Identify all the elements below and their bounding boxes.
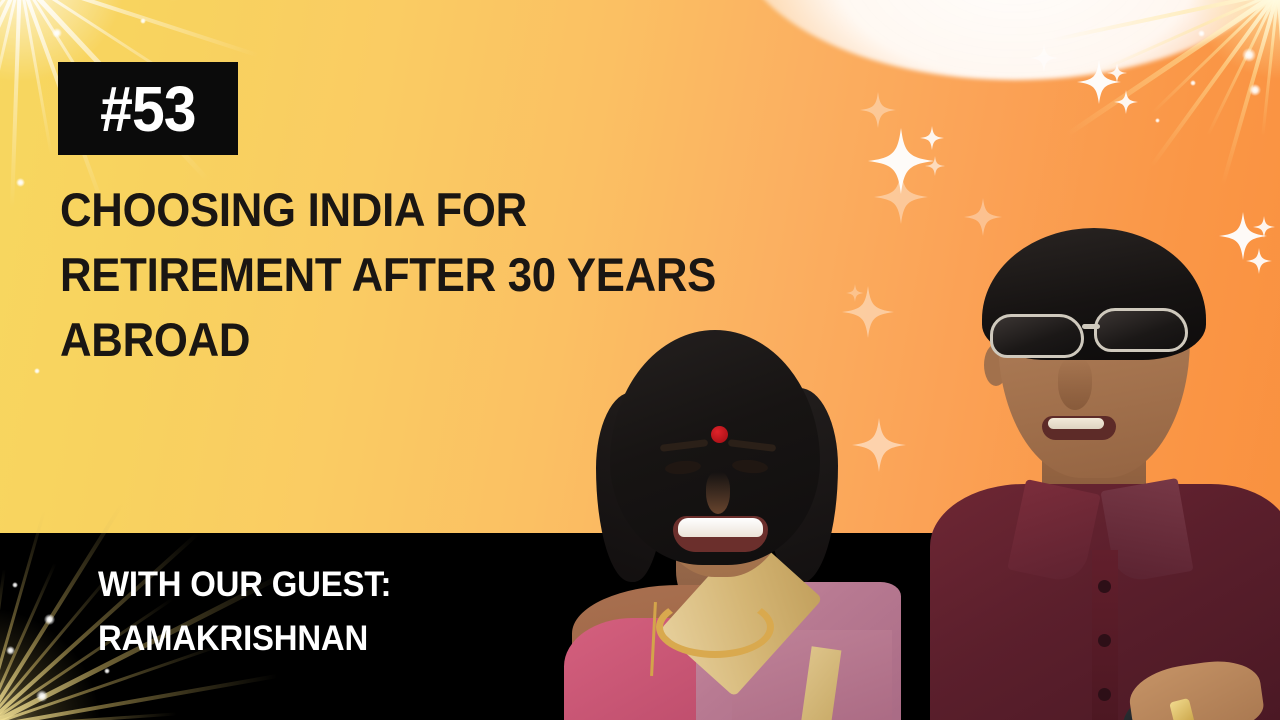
shirt-button — [1098, 688, 1111, 701]
gold-necklace — [656, 596, 774, 658]
guest-name: RAMAKRISHNAN — [98, 612, 391, 666]
nose — [706, 472, 730, 514]
title-line: ABROAD — [60, 308, 804, 373]
teeth — [1048, 418, 1104, 429]
man-guest-portrait — [940, 228, 1280, 720]
teeth — [678, 518, 763, 537]
bindi — [711, 426, 728, 443]
episode-number-badge: #53 — [58, 62, 238, 155]
nose — [1058, 358, 1092, 410]
guest-credit: WITH OUR GUEST: RAMAKRISHNAN — [98, 558, 410, 667]
episode-number-label: #53 — [100, 77, 195, 141]
title-line: CHOOSING INDIA FOR — [60, 178, 804, 243]
title-line: RETIREMENT AFTER 30 YEARS — [60, 243, 804, 308]
video-thumbnail: #53 CHOOSING INDIA FOR RETIREMENT AFTER … — [0, 0, 1280, 720]
sunglasses-icon — [990, 306, 1200, 364]
guest-prefix-label: WITH OUR GUEST: — [98, 558, 391, 612]
shirt-button — [1098, 580, 1111, 593]
mouth — [1042, 416, 1116, 440]
glasses-bridge — [1082, 324, 1100, 329]
lens-right — [1094, 308, 1188, 352]
page-title: CHOOSING INDIA FOR RETIREMENT AFTER 30 Y… — [60, 178, 860, 373]
shirt-button — [1098, 634, 1111, 647]
woman-guest-portrait — [556, 330, 886, 720]
mouth — [673, 516, 768, 552]
lens-left — [990, 314, 1084, 358]
